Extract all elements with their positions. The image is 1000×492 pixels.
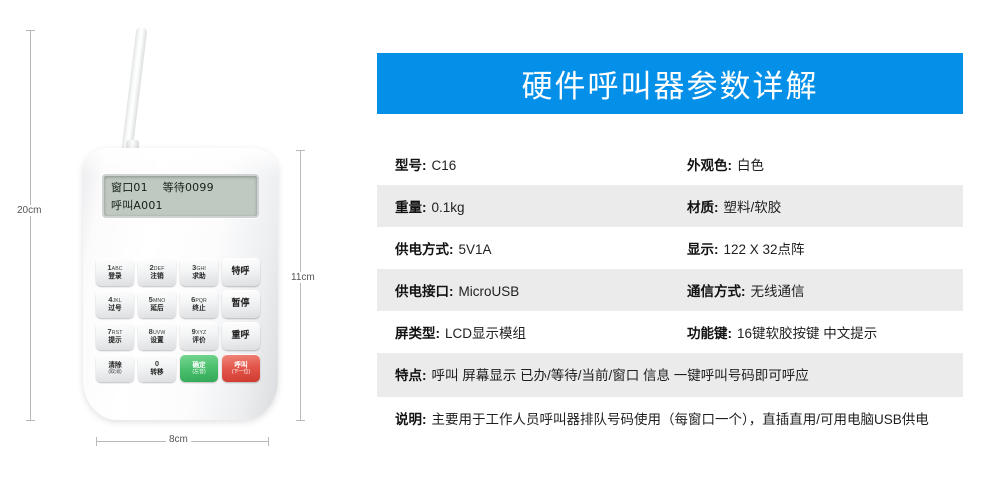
- spec-colon: :: [449, 242, 454, 257]
- lcd-line-2: 呼叫A001: [111, 197, 250, 215]
- key-main-label: 登录: [108, 273, 121, 280]
- spec-value: 122 X 32点阵: [724, 238, 805, 258]
- key-letters: JKL: [113, 298, 122, 304]
- key-延后[interactable]: 5MNO延后: [138, 290, 176, 318]
- dimension-cap-right: [268, 437, 269, 446]
- spec-cell: 屏类型:LCD显示模组: [377, 322, 687, 342]
- spec-cell: 型号:C16: [377, 154, 687, 174]
- key-main-label: 重呼: [232, 331, 250, 341]
- key-top-label: 6PQR: [191, 296, 207, 304]
- key-登录[interactable]: 1ABC登录: [96, 258, 134, 286]
- spec-row: 型号:C16外观色:白色: [377, 143, 963, 185]
- key-letters: DEF: [154, 266, 165, 272]
- key-top-label: 2DEF: [150, 264, 165, 272]
- key-top-label: 9XYZ: [192, 328, 207, 336]
- key-top-label: 1ABC: [107, 264, 122, 272]
- key-main-label: 过号: [108, 305, 121, 312]
- key-sub-label: (下一位): [232, 370, 250, 375]
- keypad: 1ABC登录2DEF注销3GHI求助特呼4JKL过号5MNO延后6PQR终止暂停…: [96, 258, 266, 382]
- spec-key: 显示: [687, 238, 714, 258]
- key-呼叫[interactable]: 呼叫(下一位): [222, 354, 260, 382]
- key-清除[interactable]: 清除(取消): [96, 354, 134, 382]
- page-title: 硬件呼叫器参数详解: [522, 61, 819, 106]
- dimension-line-overall-height: [30, 30, 31, 420]
- dimension-cap-body-bottom: [296, 420, 305, 421]
- key-main-label: 转移: [150, 369, 163, 376]
- spec-colon: :: [422, 412, 427, 427]
- spec-colon: :: [422, 200, 427, 215]
- spec-key: 型号: [395, 154, 422, 174]
- key-main-label: 清除: [108, 362, 121, 369]
- spec-row: 屏类型:LCD显示模组功能键:16键软胶按键 中文提示: [377, 311, 963, 353]
- product-photo-panel: 窗口01 等待0099 呼叫A001 1ABC登录2DEF注销3GHI求助特呼4…: [0, 0, 350, 492]
- spec-value: 无线通信: [751, 280, 805, 300]
- spec-value: 白色: [737, 154, 764, 174]
- spec-key: 功能键: [687, 322, 728, 342]
- spec-value: C16: [432, 158, 457, 173]
- spec-key: 材质: [687, 196, 714, 216]
- spec-key: 重量: [395, 196, 422, 216]
- key-评价[interactable]: 9XYZ评价: [180, 322, 218, 350]
- dimension-label-overall-height: 20cm: [14, 205, 44, 216]
- spec-colon: :: [741, 284, 746, 299]
- key-top-label: 7RST: [108, 328, 123, 336]
- key-letters: UVW: [153, 330, 165, 336]
- key-top-label: 8UVW: [149, 328, 166, 336]
- spec-colon: :: [436, 326, 441, 341]
- spec-row: 供电接口:MicroUSB通信方式:无线通信: [377, 269, 963, 311]
- key-main-label: 提示: [108, 337, 121, 344]
- key-main-label: 特呼: [232, 267, 250, 277]
- key-求助[interactable]: 3GHI求助: [180, 258, 218, 286]
- dimension-label-width: 8cm: [166, 434, 191, 445]
- key-main-label: 呼叫: [234, 362, 247, 369]
- dimension-cap-left: [96, 437, 97, 446]
- spec-value: LCD显示模组: [445, 322, 526, 342]
- spec-cell: 重量:0.1kg: [377, 196, 687, 216]
- dimension-cap-top: [26, 30, 35, 31]
- spec-colon: :: [714, 200, 719, 215]
- spec-cell: 供电方式:5V1A: [377, 238, 687, 258]
- spec-colon: :: [714, 242, 719, 257]
- spec-panel: 硬件呼叫器参数详解 型号:C16外观色:白色重量:0.1kg材质:塑料/软胶供电…: [377, 0, 963, 492]
- spec-key: 供电方式: [395, 238, 449, 258]
- caller-device-body: 窗口01 等待0099 呼叫A001 1ABC登录2DEF注销3GHI求助特呼4…: [83, 148, 278, 420]
- spec-colon: :: [728, 158, 733, 173]
- key-特呼[interactable]: 特呼: [222, 258, 260, 286]
- key-top-label: 4JKL: [108, 296, 122, 304]
- spec-value: 塑料/软胶: [724, 196, 782, 216]
- key-top-label: 0: [155, 360, 159, 368]
- key-main-label: 设置: [150, 337, 163, 344]
- key-letters: RST: [112, 330, 123, 336]
- spec-cell: 通信方式:无线通信: [687, 280, 963, 300]
- key-设置[interactable]: 8UVW设置: [138, 322, 176, 350]
- spec-row: 供电方式:5V1A显示:122 X 32点阵: [377, 227, 963, 269]
- title-banner: 硬件呼叫器参数详解: [377, 53, 963, 114]
- spec-key: 外观色: [687, 154, 728, 174]
- key-重呼[interactable]: 重呼: [222, 322, 260, 350]
- key-letters: XYZ: [196, 330, 206, 336]
- key-top-label: 3GHI: [192, 264, 206, 272]
- spec-key: 特点: [395, 364, 422, 384]
- spec-row: 重量:0.1kg材质:塑料/软胶: [377, 185, 963, 227]
- spec-row: 说明:主要用于工作人员呼叫器排队号码使用（每窗口一个），直插直用/可用电脑USB…: [377, 397, 963, 441]
- key-确定[interactable]: 确定(左音): [180, 354, 218, 382]
- dimension-cap-bottom: [26, 420, 35, 421]
- key-sub-label: (取消): [108, 370, 121, 375]
- spec-colon: :: [422, 368, 427, 383]
- spec-cell: 说明:主要用于工作人员呼叫器排队号码使用（每窗口一个），直插直用/可用电脑USB…: [377, 408, 963, 430]
- key-转移[interactable]: 0转移: [138, 354, 176, 382]
- spec-cell: 显示:122 X 32点阵: [687, 238, 963, 258]
- spec-row: 特点:呼叫 屏幕显示 已办/等待/当前/窗口 信息 一键呼叫号码即可呼应: [377, 353, 963, 397]
- key-main-label: 延后: [150, 305, 163, 312]
- spec-colon: :: [449, 284, 454, 299]
- key-main-label: 评价: [192, 337, 205, 344]
- spec-key: 说明: [395, 408, 422, 428]
- spec-cell: 材质:塑料/软胶: [687, 196, 963, 216]
- key-digit: 0: [155, 359, 159, 368]
- key-letters: MNO: [153, 298, 165, 304]
- key-main-label: 注销: [150, 273, 163, 280]
- spec-cell: 特点:呼叫 屏幕显示 已办/等待/当前/窗口 信息 一键呼叫号码即可呼应: [377, 364, 963, 386]
- spec-key: 屏类型: [395, 322, 436, 342]
- spec-key: 供电接口: [395, 280, 449, 300]
- spec-value: 16键软胶按键 中文提示: [737, 322, 877, 342]
- key-sub-label: (左音): [192, 370, 205, 375]
- spec-cell: 外观色:白色: [687, 154, 963, 174]
- spec-value: 呼叫 屏幕显示 已办/等待/当前/窗口 信息 一键呼叫号码即可呼应: [432, 366, 809, 386]
- spec-key: 通信方式: [687, 280, 741, 300]
- key-main-label: 确定: [192, 362, 205, 369]
- spec-cell: 功能键:16键软胶按键 中文提示: [687, 322, 963, 342]
- spec-value: 0.1kg: [432, 200, 465, 215]
- dimension-cap-body-top: [296, 150, 305, 151]
- dimension-line-body-height: [300, 150, 301, 420]
- spec-value: MicroUSB: [459, 284, 520, 299]
- spec-cell: 供电接口:MicroUSB: [377, 280, 687, 300]
- spec-colon: :: [422, 158, 427, 173]
- key-注销[interactable]: 2DEF注销: [138, 258, 176, 286]
- key-letters: GHI: [196, 266, 206, 272]
- key-main-label: 暂停: [232, 299, 250, 309]
- dimension-label-body-height: 11cm: [288, 272, 318, 283]
- lcd-line-1: 窗口01 等待0099: [111, 179, 250, 197]
- spec-table: 型号:C16外观色:白色重量:0.1kg材质:塑料/软胶供电方式:5V1A显示:…: [377, 143, 963, 440]
- key-main-label: 终止: [192, 305, 205, 312]
- spec-value: 5V1A: [459, 242, 492, 257]
- key-提示[interactable]: 7RST提示: [96, 322, 134, 350]
- key-letters: ABC: [112, 266, 123, 272]
- key-top-label: 5MNO: [149, 296, 166, 304]
- antenna: [121, 26, 148, 154]
- key-main-label: 求助: [192, 273, 205, 280]
- spec-value: 主要用于工作人员呼叫器排队号码使用（每窗口一个），直插直用/可用电脑USB供电: [432, 410, 929, 430]
- spec-colon: :: [728, 326, 733, 341]
- key-终止[interactable]: 6PQR终止: [180, 290, 218, 318]
- key-暂停[interactable]: 暂停: [222, 290, 260, 318]
- key-letters: PQR: [195, 298, 207, 304]
- lcd-screen: 窗口01 等待0099 呼叫A001: [102, 174, 259, 218]
- key-过号[interactable]: 4JKL过号: [96, 290, 134, 318]
